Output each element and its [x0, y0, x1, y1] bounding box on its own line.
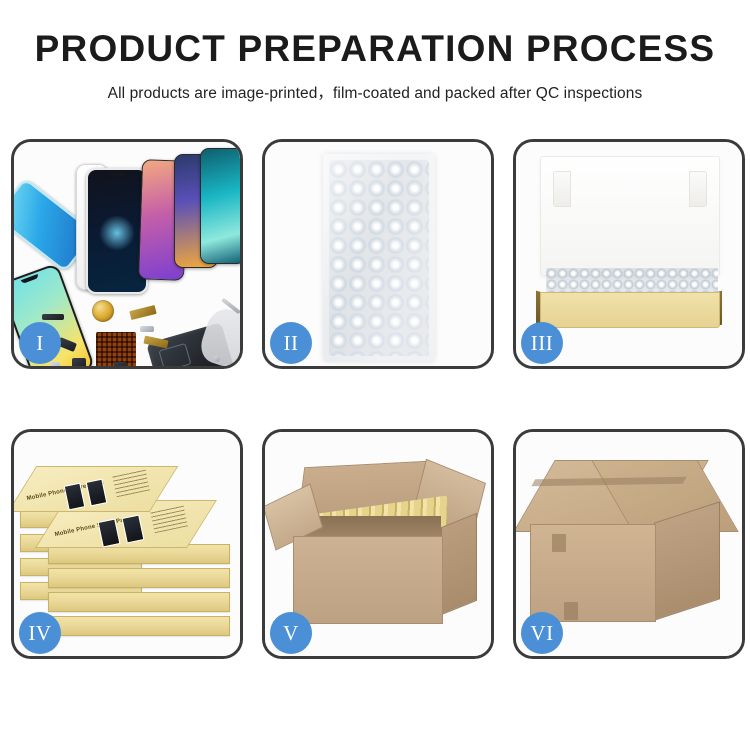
process-step-panel-4: Mobile Phone Spare Parts Mobile Phone Sp… [11, 429, 243, 659]
mailer-front-panel-icon [540, 292, 720, 328]
spare-part-icon [114, 362, 126, 369]
bubble-wrapped-contents-icon [546, 268, 718, 294]
step-badge-3: III [521, 322, 563, 364]
screen-glow-icon [99, 215, 135, 251]
screw-icon [224, 364, 230, 369]
mailer-lid-icon [540, 156, 720, 276]
page-header: PRODUCT PREPARATION PROCESS All products… [0, 0, 750, 103]
phone-notch-icon [21, 274, 39, 284]
stacked-box-icon [48, 616, 230, 636]
spare-part-icon [92, 366, 108, 369]
process-step-panel-3: III [513, 139, 745, 369]
carton-tape-patch-icon [552, 534, 566, 552]
lid-tab-left-icon [553, 171, 571, 207]
page-title: PRODUCT PREPARATION PROCESS [0, 30, 750, 67]
process-step-panel-1: I [11, 139, 243, 369]
stacked-box-icon [48, 592, 230, 612]
process-step-panel-2: II [262, 139, 494, 369]
phone-teal-icon [200, 148, 243, 264]
page-subtitle: All products are image-printed，film-coat… [0, 81, 750, 103]
step-badge-1: I [19, 322, 61, 364]
carton-front-icon [293, 536, 443, 624]
process-step-panel-6: VI [513, 429, 745, 659]
carton-front-icon [530, 524, 656, 622]
spare-part-icon [72, 358, 86, 369]
carton-side-icon [654, 501, 720, 620]
carton-side-icon [441, 513, 477, 616]
process-step-grid: I II III [11, 139, 739, 659]
phone-notch-icon [108, 172, 126, 176]
spare-part-icon [140, 326, 154, 332]
step-badge-4: IV [19, 612, 61, 654]
spare-part-icon [42, 314, 64, 320]
carton-tape-patch-icon [564, 602, 578, 620]
spare-part-icon [50, 362, 60, 369]
bubble-wrap-icon [323, 154, 435, 362]
speaker-coil-part-icon [92, 300, 114, 322]
plastic-sheen-icon [323, 154, 435, 362]
step-badge-5: V [270, 612, 312, 654]
screw-icon [214, 356, 220, 362]
step-badge-6: VI [521, 612, 563, 654]
stacked-box-icon [48, 568, 230, 588]
step-badge-2: II [270, 322, 312, 364]
process-step-panel-5: V [262, 429, 494, 659]
spare-part-icon [129, 305, 156, 320]
lid-tab-right-icon [689, 171, 707, 207]
